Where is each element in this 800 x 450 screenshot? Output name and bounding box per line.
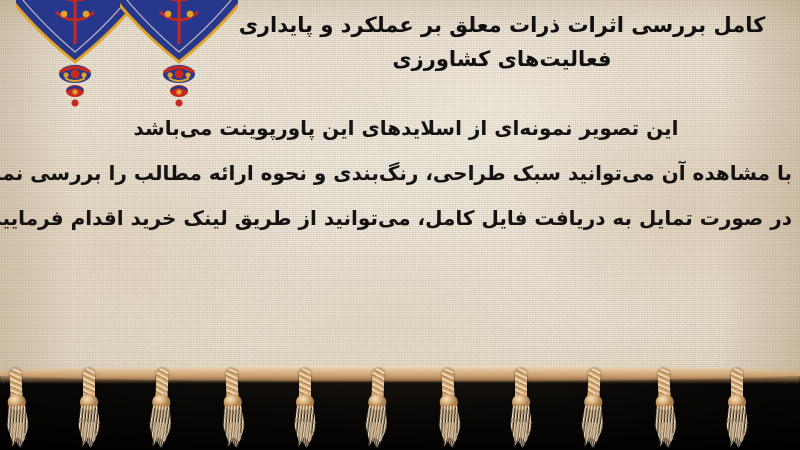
slide-body-line-3: در صورت تمایل به دریافت فایل کامل، می‌تو…: [20, 196, 792, 241]
medallion-left-icon: [16, 0, 134, 108]
fringe-tassel: [292, 366, 318, 450]
slide-body-text: این تصویر نمونه‌ای از اسلایدهای این پاور…: [20, 106, 792, 241]
fringe-tassel: [146, 365, 176, 450]
slide-title-line-1: کامل بررسی اثرات ذرات معلق بر عملکرد و پ…: [214, 8, 790, 42]
persian-medallion-left-ornament: [16, 0, 134, 108]
fringe-tassel: [218, 365, 248, 450]
fringe-tassel: [434, 365, 464, 450]
fringe-tassel: [362, 365, 392, 450]
slide-body-line-1: این تصویر نمونه‌ای از اسلایدهای این پاور…: [20, 106, 792, 151]
fringe-tassel: [2, 365, 32, 450]
fringe-tassel: [76, 366, 102, 450]
presentation-slide: کامل بررسی اثرات ذرات معلق بر عملکرد و پ…: [0, 0, 800, 450]
slide-body-line-2: با مشاهده آن می‌توانید سبک طراحی، رنگ‌بن…: [20, 151, 792, 196]
fringe-tassel: [578, 365, 608, 450]
slide-title-line-2: فعالیت‌های کشاورزی: [214, 42, 790, 76]
fringe-tassel: [650, 365, 680, 450]
slide-title: کامل بررسی اثرات ذرات معلق بر عملکرد و پ…: [214, 8, 790, 76]
carpet-fringe: [0, 366, 800, 450]
fringe-tassel: [508, 366, 534, 450]
fringe-tassel: [724, 366, 750, 450]
